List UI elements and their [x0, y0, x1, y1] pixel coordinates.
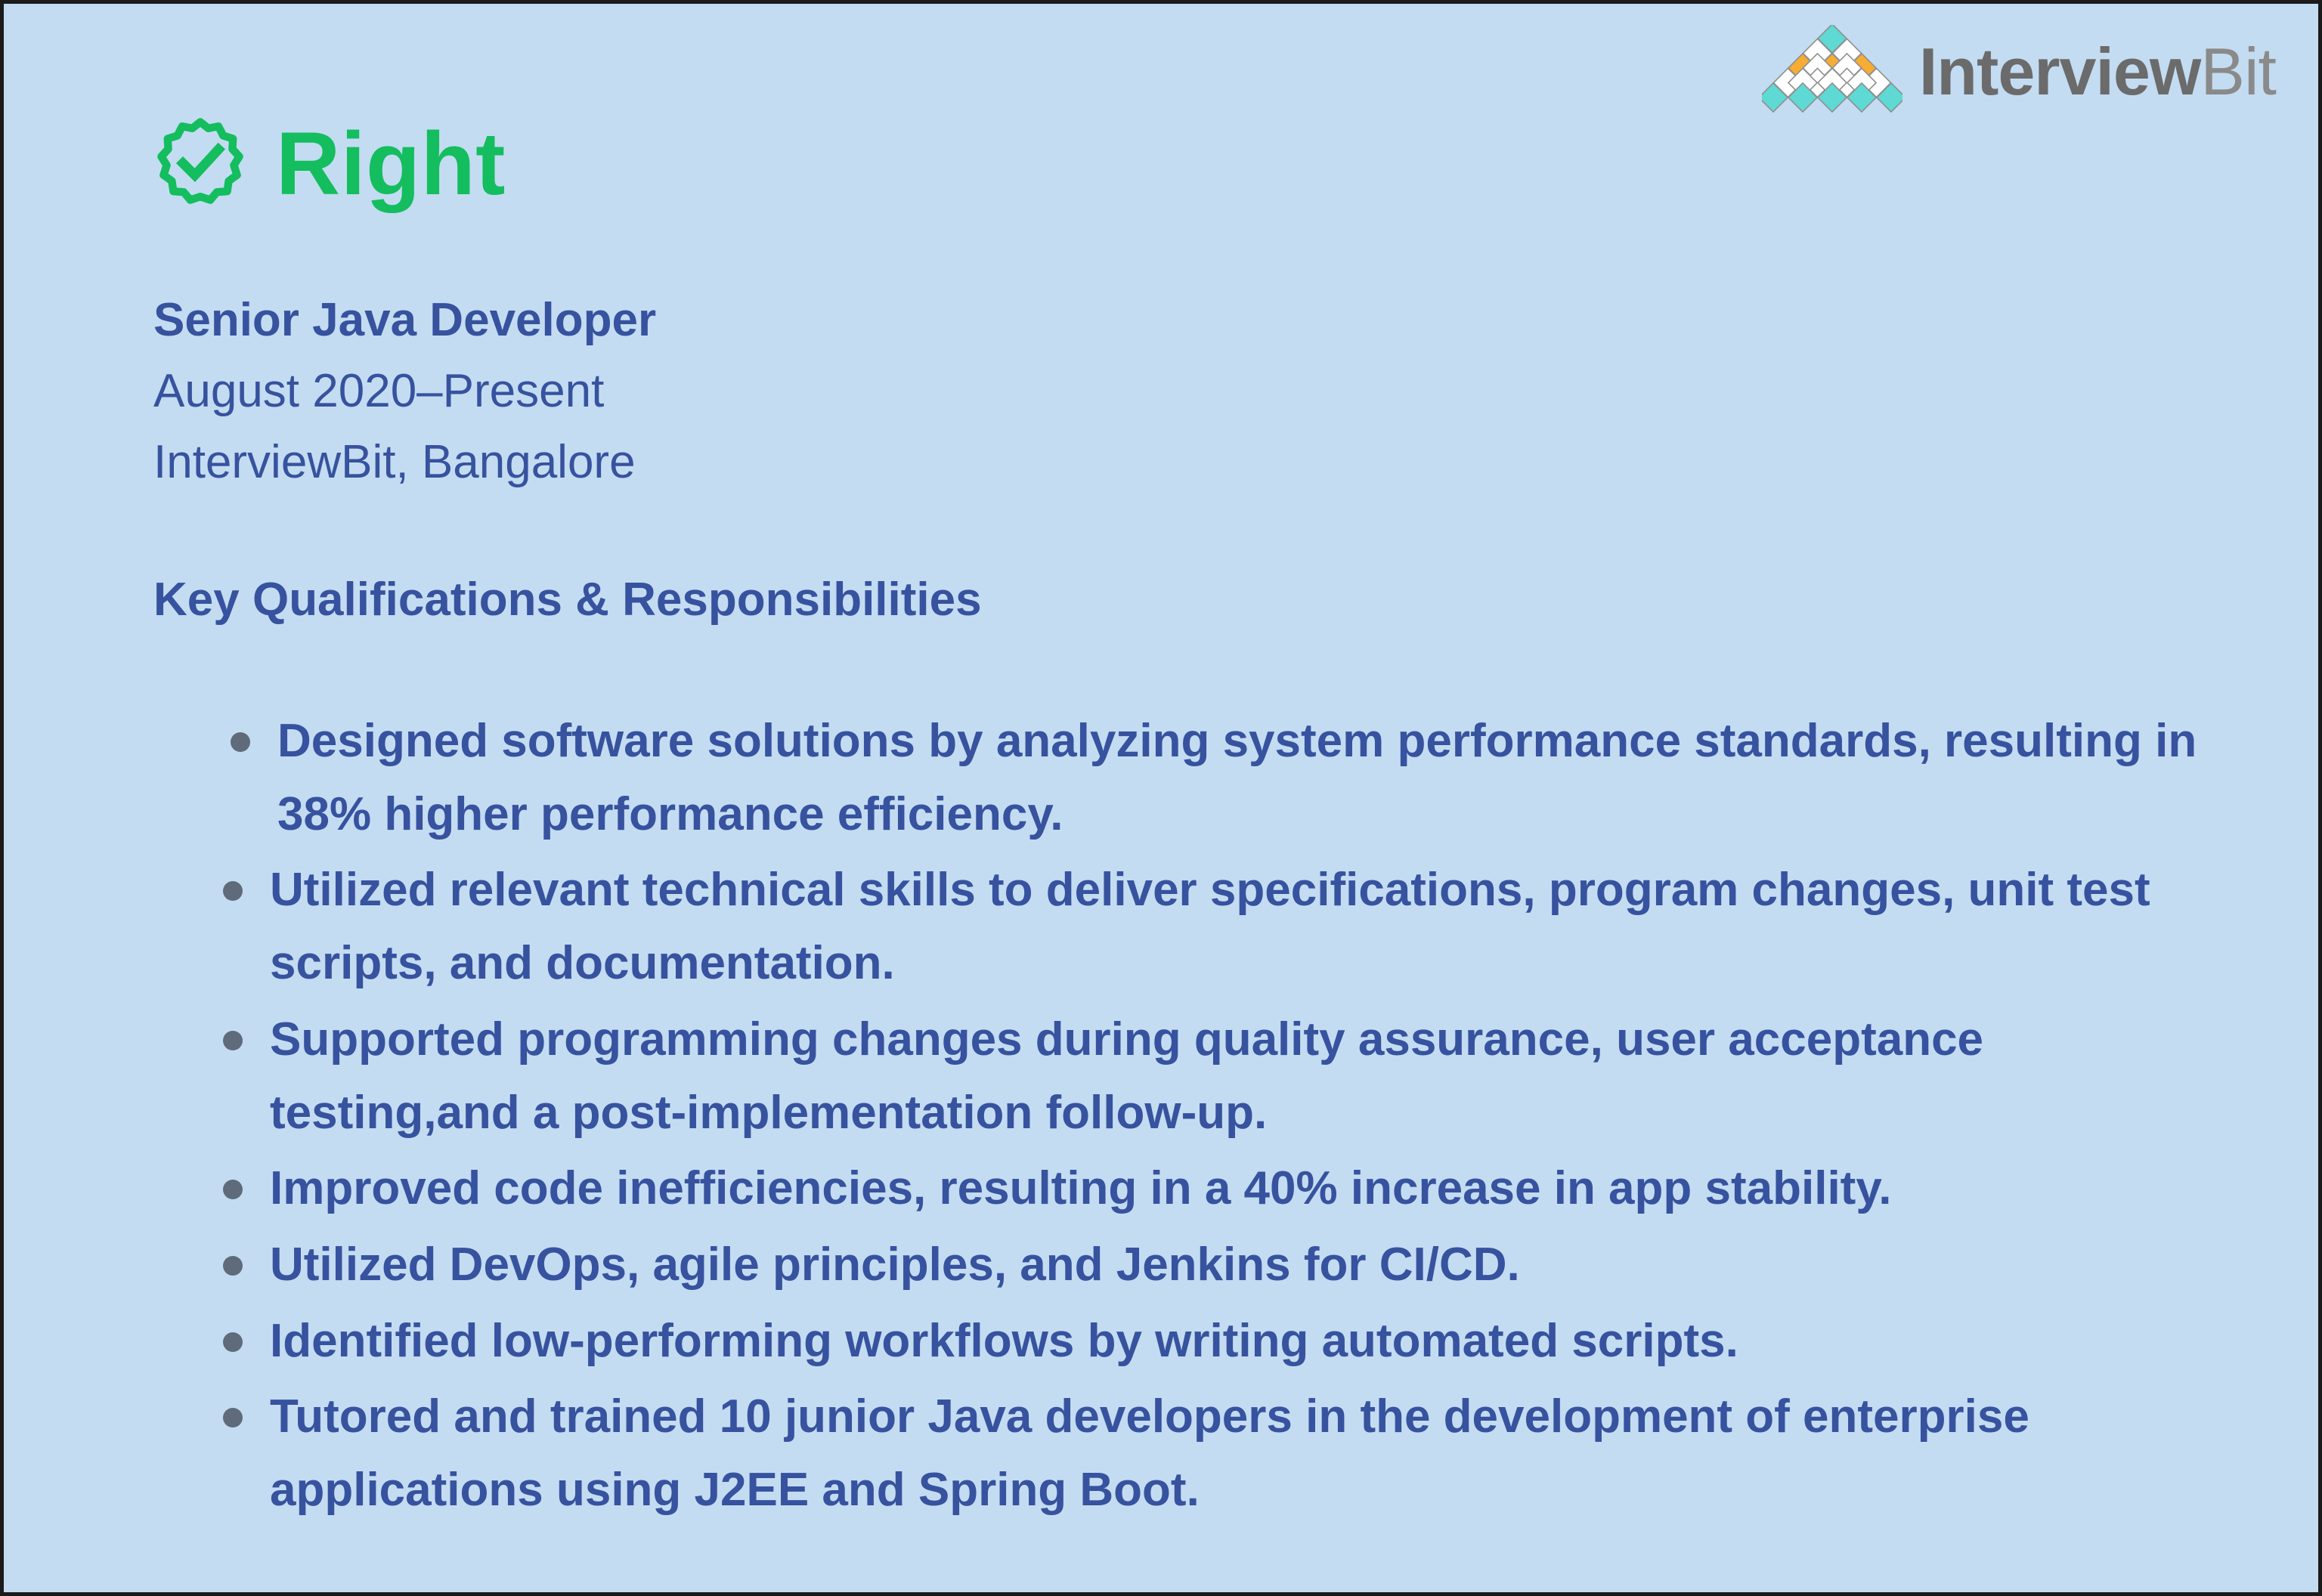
list-item-text: Tutored and trained 10 junior Java devel… — [270, 1381, 2234, 1526]
interviewbit-wordmark: InterviewBit — [1919, 39, 2276, 105]
section-heading-key-qualifications: Key Qualifications & Responsibilities — [153, 572, 982, 628]
job-dates: August 2020–Present — [153, 356, 656, 427]
list-item: Designed software solutions by analyzing… — [223, 705, 2234, 851]
interviewbit-logo: InterviewBit — [1762, 25, 2276, 119]
list-item-text: Supported programming changes during qua… — [270, 1004, 2234, 1149]
list-item: Tutored and trained 10 junior Java devel… — [223, 1381, 2234, 1526]
list-item-text: Identified low-performing workflows by w… — [270, 1305, 2234, 1378]
list-item-text: Improved code inefficiencies, resulting … — [270, 1152, 2234, 1226]
bullet-dot-icon — [223, 1408, 243, 1427]
list-item: Improved code inefficiencies, resulting … — [223, 1152, 2234, 1226]
bullet-dot-icon — [223, 1256, 243, 1276]
verified-badge-check-icon — [152, 116, 249, 212]
list-item: Utilized relevant technical skills to de… — [223, 854, 2234, 1000]
resume-right-example-card: InterviewBit Right Senior Java Developer… — [0, 0, 2322, 1596]
bullet-dot-icon — [223, 881, 243, 901]
bullet-dot-icon — [223, 1031, 243, 1050]
interviewbit-diamond-pyramid-icon — [1762, 25, 1902, 119]
list-item-text: Utilized DevOps, agile principles, and J… — [270, 1229, 2234, 1302]
job-title: Senior Java Developer — [153, 285, 656, 356]
wordmark-bit: Bit — [2200, 39, 2276, 105]
list-item: Utilized DevOps, agile principles, and J… — [223, 1229, 2234, 1302]
job-company-location: InterviewBit, Bangalore — [153, 427, 656, 498]
wordmark-interview: Interview — [1919, 39, 2200, 105]
list-item: Supported programming changes during qua… — [223, 1004, 2234, 1149]
list-item: Identified low-performing workflows by w… — [223, 1305, 2234, 1378]
bullet-dot-icon — [223, 1332, 243, 1352]
verdict-heading: Right — [152, 116, 506, 212]
verdict-label: Right — [276, 119, 506, 209]
bullet-dot-icon — [231, 732, 250, 752]
list-item-text: Designed software solutions by analyzing… — [277, 705, 2234, 851]
list-item-text: Utilized relevant technical skills to de… — [270, 854, 2234, 1000]
job-header-block: Senior Java Developer August 2020–Presen… — [153, 285, 656, 499]
responsibilities-list: Designed software solutions by analyzing… — [223, 705, 2234, 1530]
bullet-dot-icon — [223, 1180, 243, 1199]
